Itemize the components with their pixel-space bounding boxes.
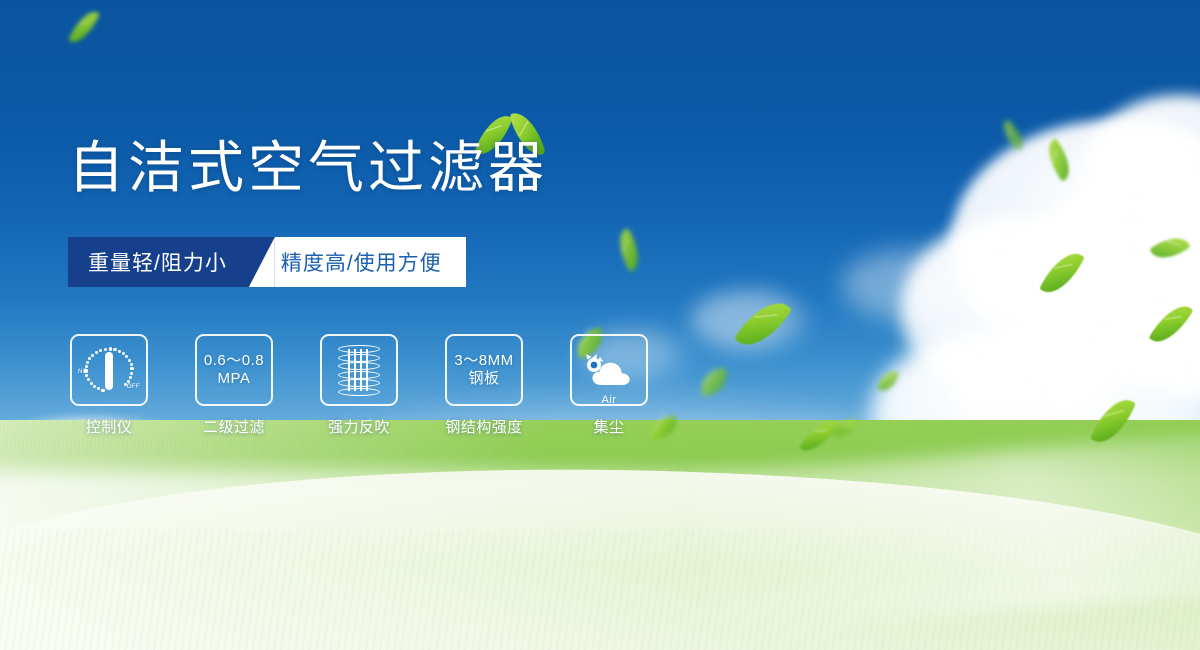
feature-icon-box: NO OFF (70, 334, 148, 406)
feature-item-controller[interactable]: NO OFF 控制仪 (68, 334, 150, 437)
feature-label: 强力反吹 (318, 416, 400, 437)
feature-icon-box: Air (570, 334, 648, 406)
filter-coil-icon (338, 345, 380, 395)
cloud-air-icon: Air (583, 353, 635, 387)
feature-item-steel-strength[interactable]: 3～8MM 钢板 钢结构强度 (443, 334, 525, 437)
steel-material-line2: 钢板 (468, 370, 499, 388)
grass-field (0, 420, 1200, 650)
feature-item-pulse-blowback[interactable]: 强力反吹 (318, 334, 400, 437)
feature-item-dust-collection[interactable]: Air 集尘 (568, 334, 650, 437)
feature-item-two-stage-filter[interactable]: 0.6～0.8 MPA 二级过滤 (193, 334, 275, 437)
subtitle-bar: 重量轻/阻力小 精度高/使用方便 (68, 237, 466, 287)
subtitle-divider (249, 237, 275, 287)
page-title: 自洁式空气过滤器 (68, 140, 548, 196)
gauge-off-label: OFF (127, 384, 140, 390)
feature-icon-box (320, 334, 398, 406)
feature-list: NO OFF 控制仪 0.6～0.8 MPA 二级过滤 强力反吹 3～8MM (68, 334, 650, 437)
subtitle-segment-left: 重量轻/阻力小 (68, 237, 249, 287)
feature-label: 二级过滤 (193, 416, 275, 437)
feature-label: 控制仪 (68, 416, 150, 437)
product-hero-banner: 自洁式空气过滤器 重量轻/阻力小 精度高/使用方便 NO OFF 控制仪 0.6… (0, 0, 1200, 650)
feature-label: 集尘 (568, 416, 650, 437)
gauge-dial-icon: NO OFF (79, 343, 139, 397)
subtitle-segment-right: 精度高/使用方便 (275, 237, 466, 287)
pressure-unit-line2: MPA (218, 370, 251, 388)
feature-icon-box: 3～8MM 钢板 (445, 334, 523, 406)
feature-label: 钢结构强度 (443, 416, 525, 437)
pressure-value-line1: 0.6～0.8 (204, 352, 264, 370)
air-label: Air (583, 394, 635, 406)
steel-thickness-line1: 3～8MM (454, 352, 513, 370)
feature-icon-box: 0.6～0.8 MPA (195, 334, 273, 406)
